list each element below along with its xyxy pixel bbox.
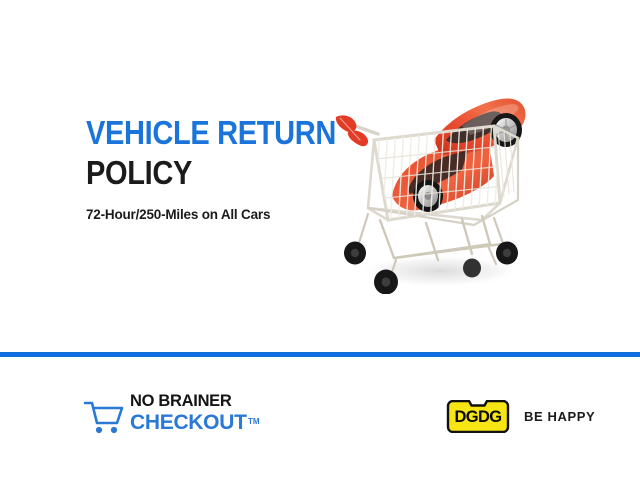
nbc-line-2: CHECKOUT: [130, 411, 247, 434]
page-subtitle: 72-Hour/250-Miles on All Cars: [86, 207, 346, 222]
cart-lower-frame: [380, 216, 502, 260]
dgdg-tagline: BE HAPPY: [524, 409, 595, 424]
nbc-line-1: NO BRAINER: [130, 392, 247, 410]
slide-root: VEHICLE RETURN POLICY 72-Hour/250-Miles …: [0, 0, 640, 480]
nbc-line-2-wrap: CHECKOUT TM: [130, 411, 247, 435]
dgdg-badge-text: DGDG: [446, 400, 510, 433]
dgdg-badge: DGDG: [446, 400, 510, 433]
no-brainer-checkout-wordmark: NO BRAINER CHECKOUT TM: [130, 392, 247, 435]
headline-block: VEHICLE RETURN POLICY 72-Hour/250-Miles …: [86, 116, 346, 222]
dgdg-logo: DGDG BE HAPPY: [446, 398, 595, 434]
cart-handle: [336, 115, 378, 146]
hero-image-cart-with-car: [322, 68, 554, 294]
shopping-cart-icon: [82, 397, 126, 437]
page-title-secondary: POLICY: [86, 155, 315, 191]
no-brainer-checkout-logo: NO BRAINER CHECKOUT TM: [82, 392, 267, 442]
page-title-primary: VEHICLE RETURN: [86, 116, 315, 150]
section-divider: [0, 352, 640, 357]
trademark-symbol: TM: [248, 410, 260, 434]
